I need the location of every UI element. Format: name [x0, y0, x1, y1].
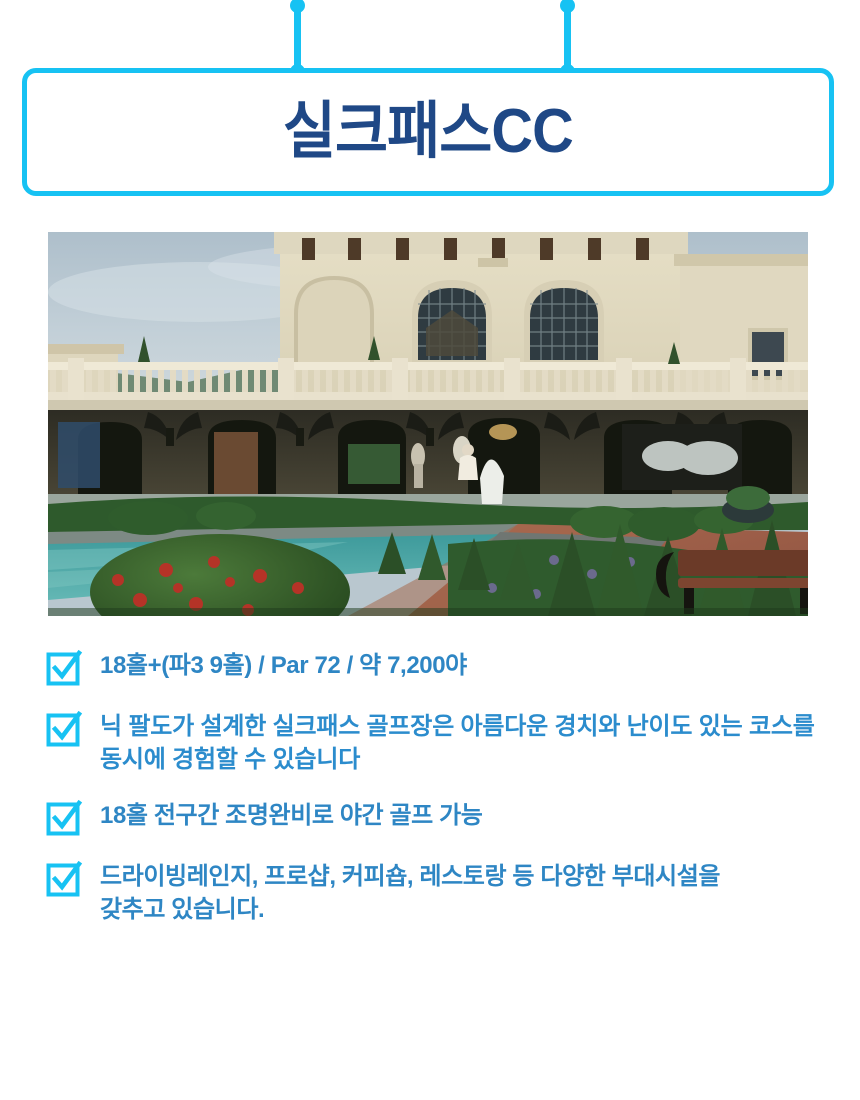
clubhouse-photo [48, 232, 808, 616]
connector-dot-top [560, 0, 575, 13]
feature-list: 18홀+(파3 9홀) / Par 72 / 약 7,200야 닉 팔도가 설계… [46, 648, 836, 926]
list-item: 18홀 전구간 조명완비로 야간 골프 가능 [46, 798, 836, 837]
connector-dot-top [290, 0, 305, 13]
list-item-label: 18홀 전구간 조명완비로 야간 골프 가능 [100, 798, 482, 832]
page-title: 실크패스CC [283, 101, 573, 163]
title-connector-left [294, 0, 301, 72]
clubhouse-photo-graphic [48, 232, 808, 616]
checkbox-checked-icon [46, 651, 82, 687]
list-item-label: 18홀+(파3 9홀) / Par 72 / 약 7,200야 [100, 648, 467, 682]
list-item: 드라이빙레인지, 프로샵, 커피숍, 레스토랑 등 다양한 부대시설을 갖추고 … [46, 859, 836, 926]
list-item-label: 닉 팔도가 설계한 실크패스 골프장은 아름다운 경치와 난이도 있는 코스를 … [100, 709, 836, 776]
title-connector-right [564, 0, 571, 72]
checkbox-checked-icon [46, 712, 82, 748]
title-card: 실크패스CC [22, 68, 834, 196]
checkbox-checked-icon [46, 862, 82, 898]
list-item: 닉 팔도가 설계한 실크패스 골프장은 아름다운 경치와 난이도 있는 코스를 … [46, 709, 836, 776]
list-item: 18홀+(파3 9홀) / Par 72 / 약 7,200야 [46, 648, 836, 687]
list-item-label: 드라이빙레인지, 프로샵, 커피숍, 레스토랑 등 다양한 부대시설을 갖추고 … [100, 859, 740, 926]
checkbox-checked-icon [46, 801, 82, 837]
